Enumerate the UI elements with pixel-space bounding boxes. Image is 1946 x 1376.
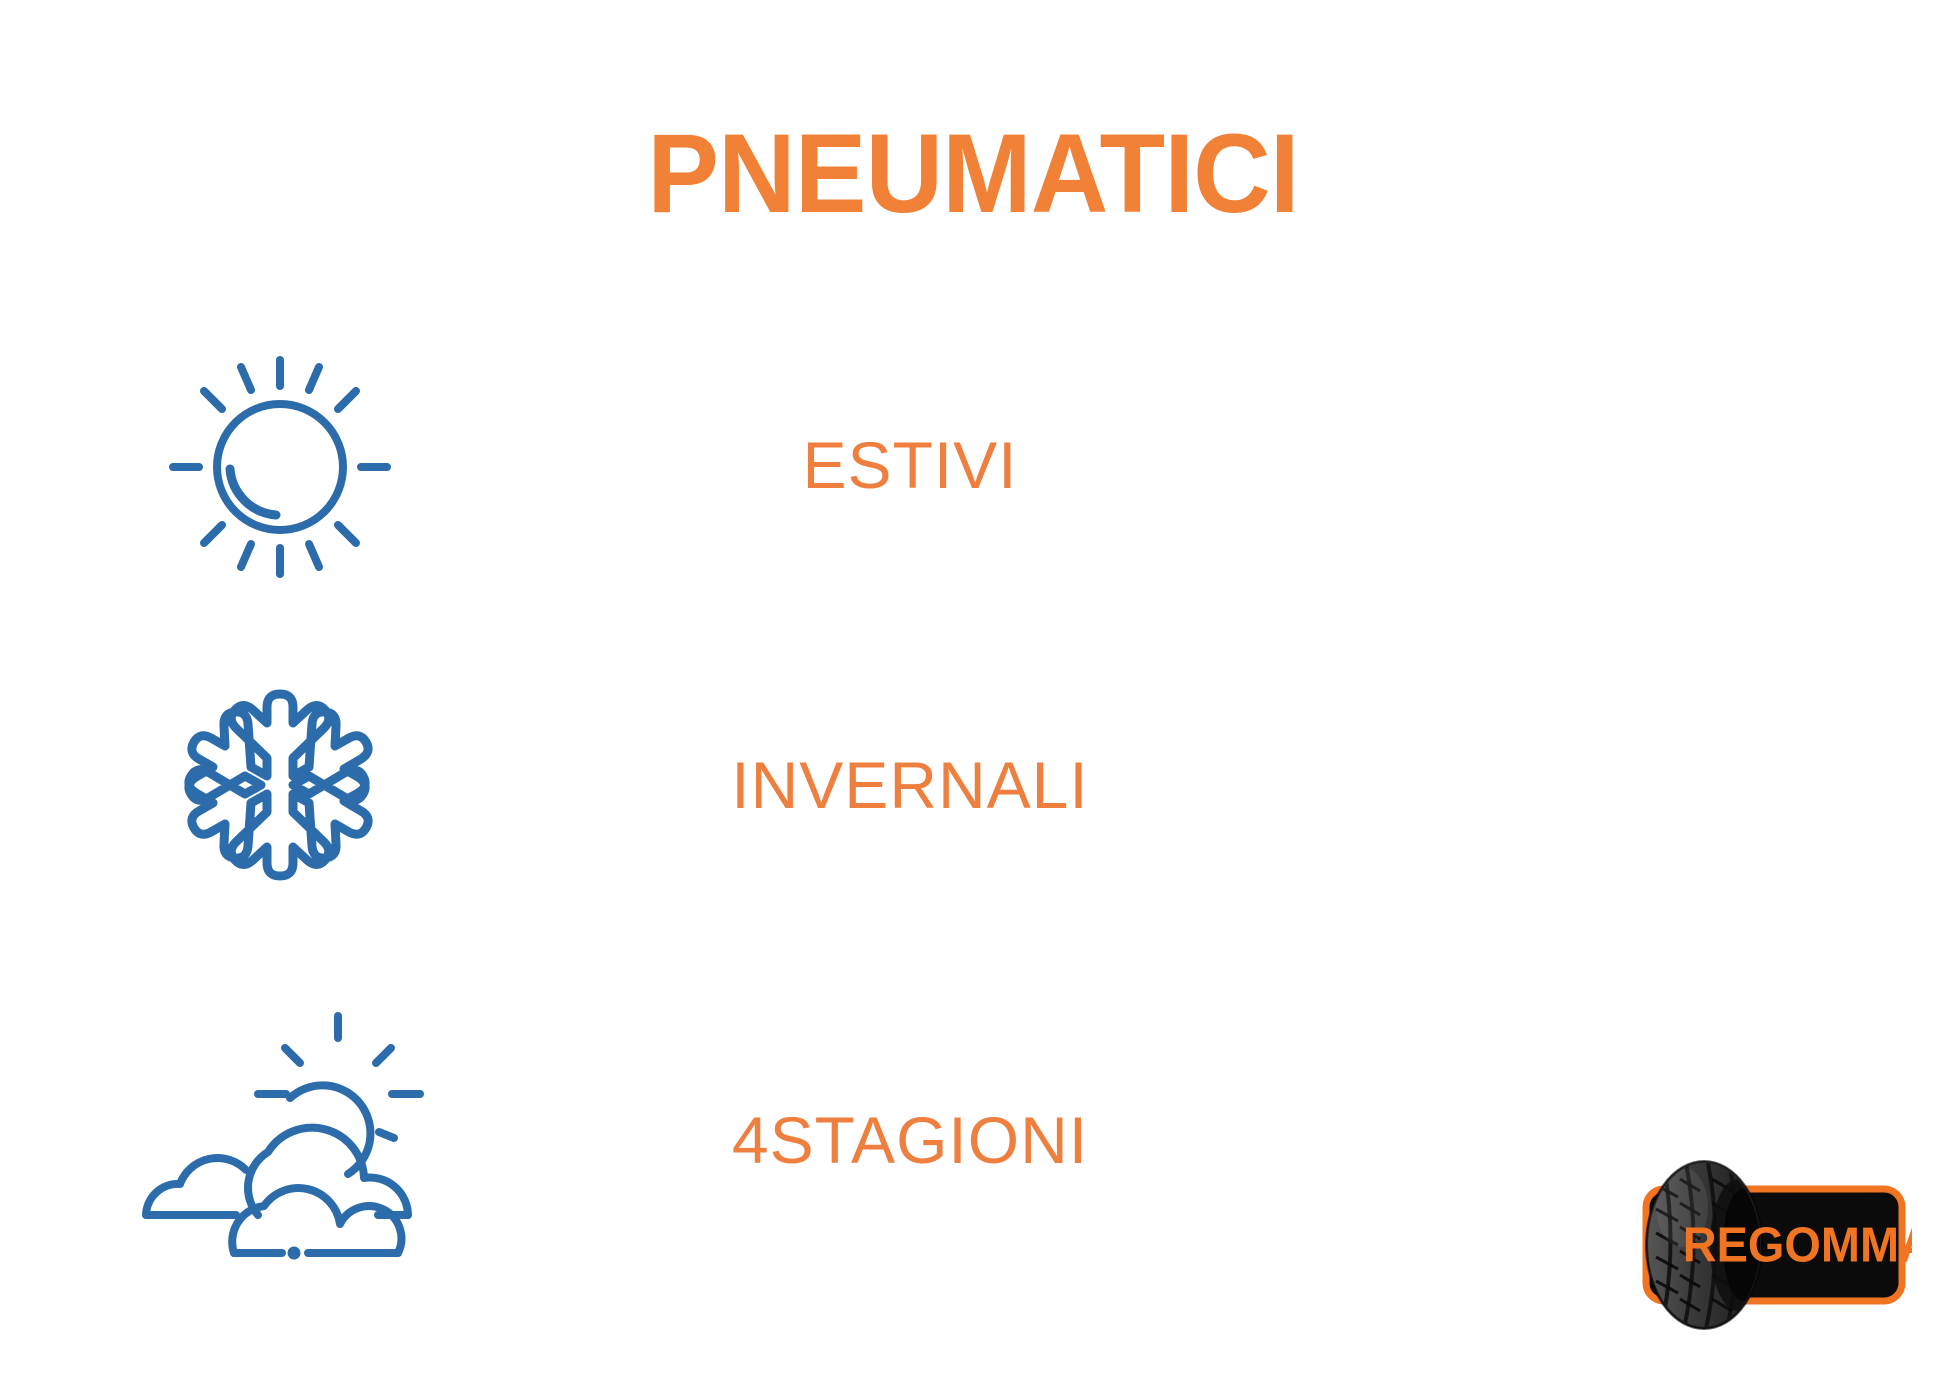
logo-text: REGOMMA — [1683, 1219, 1912, 1273]
label-cell-4stagioni: 4STAGIONI — [560, 1107, 1260, 1173]
label-estivi: ESTIVI — [802, 432, 1017, 498]
poster-canvas: PNEUMATICI — [0, 0, 1946, 1376]
regomma-logo[interactable]: REGOMMA — [1612, 1145, 1912, 1345]
snowflake-icon — [0, 660, 560, 910]
label-cell-estivi: ESTIVI — [560, 432, 1260, 498]
label-invernali: INVERNALI — [731, 752, 1088, 818]
page-title: PNEUMATICI — [39, 118, 1907, 230]
sun-icon — [0, 343, 560, 588]
row-estivi: ESTIVI — [0, 345, 1946, 585]
sun-behind-clouds-icon — [0, 1010, 560, 1270]
label-cell-invernali: INVERNALI — [560, 752, 1260, 818]
label-4stagioni: 4STAGIONI — [732, 1107, 1088, 1173]
row-invernali: INVERNALI — [0, 665, 1946, 905]
